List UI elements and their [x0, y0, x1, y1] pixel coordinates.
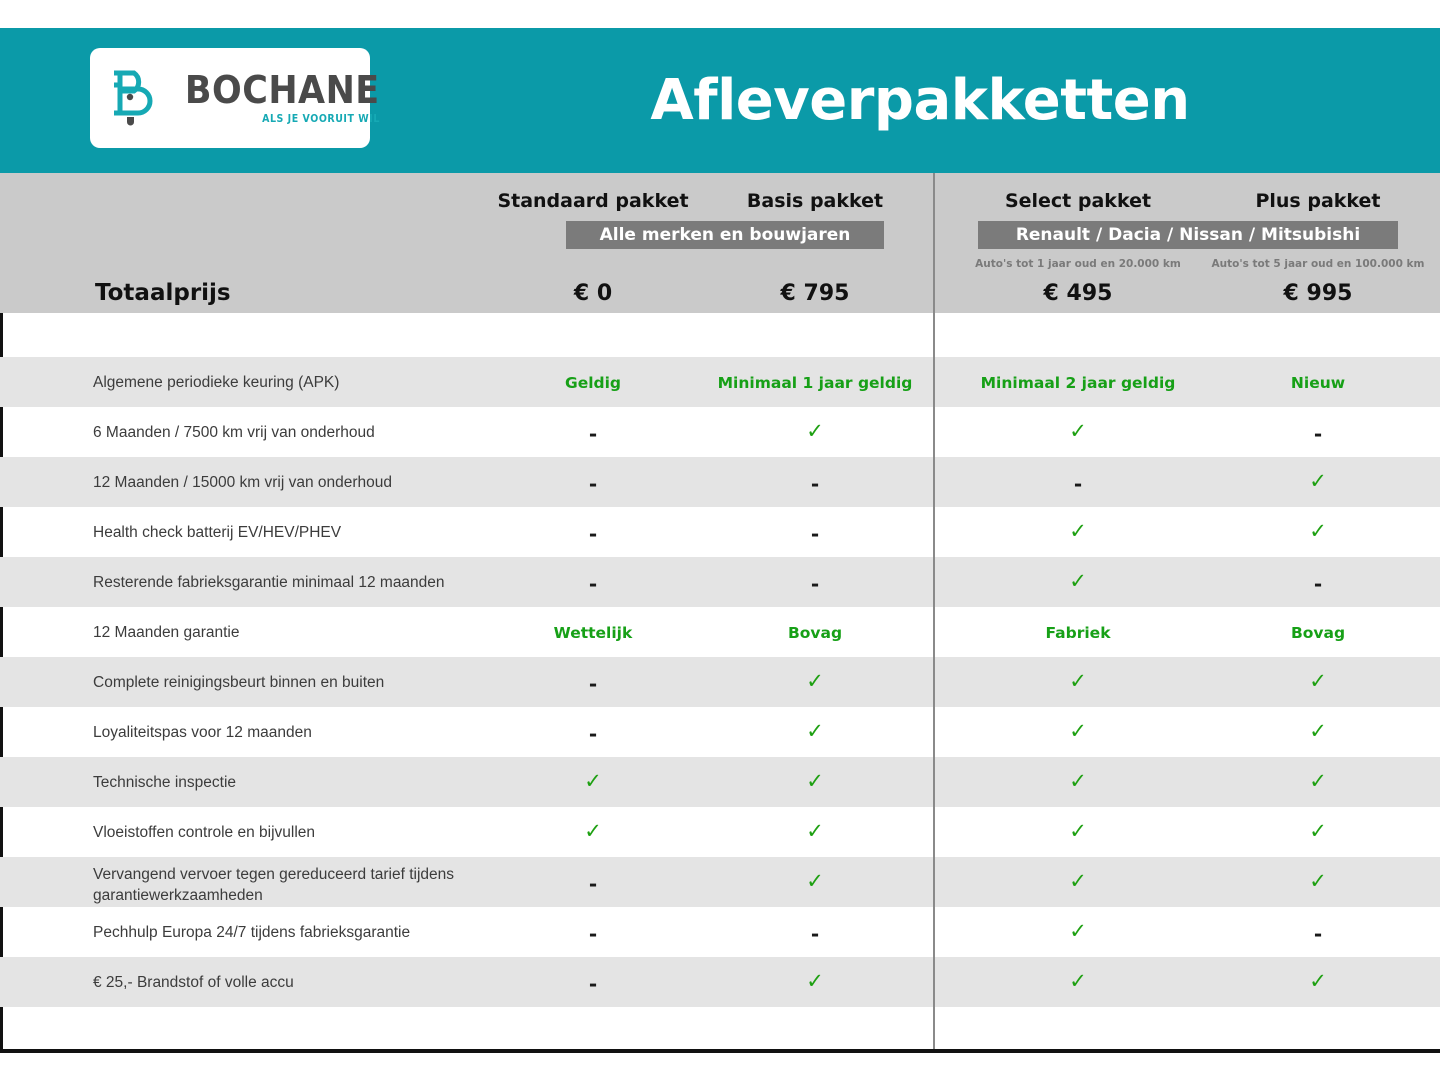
cell-value-check: ✓ [806, 669, 824, 693]
cell-value-dash: - [589, 972, 597, 996]
afleverpakketten-poster: BOCHANE ALS JE VOORUIT WIL Afleverpakket… [0, 0, 1440, 1080]
logo-tagline: ALS JE VOORUIT WIL [262, 114, 380, 125]
price-select: € 495 [958, 281, 1198, 306]
cell-standaard: ✓ [473, 771, 713, 792]
cell-value-dash: - [1314, 922, 1322, 946]
cell-value-dash: - [589, 872, 597, 896]
table-row: Vervangend vervoer tegen gereduceerd tar… [0, 857, 1440, 907]
column-header-select: Select pakket [958, 190, 1198, 212]
bochane-logo-icon [108, 67, 162, 129]
cell-standaard: - [473, 924, 713, 945]
row-label: Health check batterij EV/HEV/PHEV [93, 522, 523, 543]
table-header: Totaalprijs Standaard pakket Basis pakke… [0, 173, 1440, 313]
cell-value-check: ✓ [806, 769, 824, 793]
cell-value-dash: - [589, 522, 597, 546]
cell-value-dash: - [589, 472, 597, 496]
cell-value-check: ✓ [1309, 719, 1327, 743]
cell-select: - [958, 474, 1198, 495]
cell-plus: ✓ [1198, 821, 1438, 842]
cell-standaard: - [473, 524, 713, 545]
bochane-logo: BOCHANE ALS JE VOORUIT WIL [90, 48, 370, 148]
table-row: Technische inspectie✓✓✓✓ [0, 757, 1440, 807]
cell-select: ✓ [958, 671, 1198, 692]
cell-basis: ✓ [695, 421, 935, 442]
row-label: 6 Maanden / 7500 km vrij van onderhoud [93, 422, 523, 443]
cell-value-check: ✓ [1069, 719, 1087, 743]
cell-standaard: Geldig [473, 373, 713, 392]
cell-plus: ✓ [1198, 971, 1438, 992]
table-spacer-row-bottom [0, 1007, 1440, 1053]
cell-value-dash: - [811, 922, 819, 946]
cell-plus: Nieuw [1198, 373, 1438, 392]
cell-standaard: ✓ [473, 821, 713, 842]
column-header-plus: Plus pakket [1198, 190, 1438, 212]
cell-value-check: ✓ [1309, 769, 1327, 793]
cell-basis: ✓ [695, 871, 935, 892]
cell-plus: - [1198, 424, 1438, 445]
pill-merken-rechts: Renault / Dacia / Nissan / Mitsubishi [978, 221, 1398, 249]
cell-basis: - [695, 524, 935, 545]
cell-select: ✓ [958, 521, 1198, 542]
column-note-select: Auto's tot 1 jaar oud en 20.000 km [958, 258, 1198, 270]
cell-value-check: ✓ [1309, 519, 1327, 543]
cell-value-dash: - [589, 722, 597, 746]
cell-basis: - [695, 924, 935, 945]
cell-plus: - [1198, 924, 1438, 945]
cell-select: ✓ [958, 571, 1198, 592]
cell-plus: ✓ [1198, 871, 1438, 892]
cell-select: ✓ [958, 821, 1198, 842]
cell-value-check: ✓ [584, 769, 602, 793]
cell-value-check: ✓ [1069, 919, 1087, 943]
cell-select: ✓ [958, 871, 1198, 892]
cell-value-check: ✓ [1309, 669, 1327, 693]
table-row: Algemene periodieke keuring (APK)GeldigM… [0, 357, 1440, 407]
table-spacer-row-top [0, 313, 1440, 357]
cell-value-dash: - [811, 522, 819, 546]
table-row: 6 Maanden / 7500 km vrij van onderhoud-✓… [0, 407, 1440, 457]
column-note-plus: Auto's tot 5 jaar oud en 100.000 km [1198, 258, 1438, 270]
column-group-divider [933, 173, 935, 1051]
cell-plus: ✓ [1198, 721, 1438, 742]
cell-value-check: ✓ [806, 969, 824, 993]
row-label: Vervangend vervoer tegen gereduceerd tar… [93, 864, 523, 907]
cell-standaard: Wettelijk [473, 623, 713, 642]
cell-basis: Minimaal 1 jaar geldig [695, 373, 935, 392]
row-label: Algemene periodieke keuring (APK) [93, 372, 523, 393]
cell-value-check: ✓ [806, 419, 824, 443]
cell-basis: ✓ [695, 671, 935, 692]
cell-value-text: Wettelijk [554, 624, 633, 642]
table-row: 12 Maanden garantieWettelijkBovagFabriek… [0, 607, 1440, 657]
cell-plus: ✓ [1198, 521, 1438, 542]
cell-standaard: - [473, 474, 713, 495]
cell-value-dash: - [589, 922, 597, 946]
cell-standaard: - [473, 674, 713, 695]
cell-plus: ✓ [1198, 471, 1438, 492]
row-label: Complete reinigingsbeurt binnen en buite… [93, 672, 523, 693]
cell-plus: Bovag [1198, 623, 1438, 642]
cell-select: ✓ [958, 921, 1198, 942]
cell-value-text: Minimaal 2 jaar geldig [981, 374, 1176, 392]
cell-value-check: ✓ [1069, 819, 1087, 843]
cell-value-text: Bovag [1291, 624, 1345, 642]
row-label: Loyaliteitspas voor 12 maanden [93, 722, 523, 743]
cell-basis: ✓ [695, 771, 935, 792]
cell-value-check: ✓ [1309, 969, 1327, 993]
cell-value-dash: - [811, 572, 819, 596]
comparison-table-body: Algemene periodieke keuring (APK)GeldigM… [0, 313, 1440, 1053]
row-label: € 25,- Brandstof of volle accu [93, 972, 523, 993]
price-plus: € 995 [1198, 281, 1438, 306]
cell-basis: Bovag [695, 623, 935, 642]
cell-select: ✓ [958, 771, 1198, 792]
cell-value-dash: - [1314, 422, 1322, 446]
cell-basis: - [695, 574, 935, 595]
row-label: Vloeistoffen controle en bijvullen [93, 822, 523, 843]
cell-value-check: ✓ [1069, 869, 1087, 893]
table-bottom-rule [0, 1049, 1440, 1053]
cell-standaard: - [473, 724, 713, 745]
cell-value-check: ✓ [1309, 469, 1327, 493]
cell-value-check: ✓ [1069, 569, 1087, 593]
cell-value-dash: - [1074, 472, 1082, 496]
cell-value-check: ✓ [1309, 869, 1327, 893]
cell-basis: - [695, 474, 935, 495]
cell-standaard: - [473, 974, 713, 995]
table-row: 12 Maanden / 15000 km vrij van onderhoud… [0, 457, 1440, 507]
cell-basis: ✓ [695, 821, 935, 842]
table-row: Loyaliteitspas voor 12 maanden-✓✓✓ [0, 707, 1440, 757]
cell-value-dash: - [811, 472, 819, 496]
cell-value-dash: - [589, 422, 597, 446]
price-standaard: € 0 [473, 281, 713, 306]
cell-select: ✓ [958, 721, 1198, 742]
cell-value-check: ✓ [1069, 969, 1087, 993]
table-row: Vloeistoffen controle en bijvullen✓✓✓✓ [0, 807, 1440, 857]
cell-value-dash: - [589, 572, 597, 596]
table-row: Resterende fabrieksgarantie minimaal 12 … [0, 557, 1440, 607]
cell-select: ✓ [958, 421, 1198, 442]
cell-value-check: ✓ [806, 819, 824, 843]
cell-standaard: - [473, 574, 713, 595]
cell-plus: ✓ [1198, 771, 1438, 792]
cell-standaard: - [473, 424, 713, 445]
cell-value-check: ✓ [1069, 419, 1087, 443]
cell-value-dash: - [589, 672, 597, 696]
cell-value-text: Fabriek [1045, 624, 1110, 642]
logo-wordmark: BOCHANE [185, 71, 380, 109]
cell-value-check: ✓ [1069, 519, 1087, 543]
cell-value-check: ✓ [1069, 669, 1087, 693]
cell-value-check: ✓ [584, 819, 602, 843]
cell-value-check: ✓ [1309, 819, 1327, 843]
cell-value-check: ✓ [806, 869, 824, 893]
cell-value-text: Geldig [565, 374, 621, 392]
cell-value-check: ✓ [1069, 769, 1087, 793]
cell-basis: ✓ [695, 971, 935, 992]
price-basis: € 795 [695, 281, 935, 306]
column-header-standaard: Standaard pakket [473, 190, 713, 212]
cell-select: ✓ [958, 971, 1198, 992]
cell-plus: - [1198, 574, 1438, 595]
cell-value-dash: - [1314, 572, 1322, 596]
column-header-basis: Basis pakket [695, 190, 935, 212]
row-label: Resterende fabrieksgarantie minimaal 12 … [93, 572, 523, 593]
cell-plus: ✓ [1198, 671, 1438, 692]
table-row: € 25,- Brandstof of volle accu-✓✓✓ [0, 957, 1440, 1007]
cell-basis: ✓ [695, 721, 935, 742]
table-row: Complete reinigingsbeurt binnen en buite… [0, 657, 1440, 707]
cell-select: Fabriek [958, 623, 1198, 642]
pill-alle-merken: Alle merken en bouwjaren [566, 221, 884, 249]
cell-value-text: Nieuw [1291, 374, 1345, 392]
table-row: Pechhulp Europa 24/7 tijdens fabrieksgar… [0, 907, 1440, 957]
row-label: Technische inspectie [93, 772, 523, 793]
row-label: 12 Maanden garantie [93, 622, 523, 643]
cell-select: Minimaal 2 jaar geldig [958, 373, 1198, 392]
cell-value-text: Bovag [788, 624, 842, 642]
row-label: Pechhulp Europa 24/7 tijdens fabrieksgar… [93, 922, 523, 943]
page-title: Afleverpakketten [400, 28, 1440, 173]
table-row: Health check batterij EV/HEV/PHEV--✓✓ [0, 507, 1440, 557]
cell-value-text: Minimaal 1 jaar geldig [718, 374, 913, 392]
cell-standaard: - [473, 874, 713, 895]
totaalprijs-label: Totaalprijs [95, 280, 231, 306]
cell-value-check: ✓ [806, 719, 824, 743]
row-label: 12 Maanden / 15000 km vrij van onderhoud [93, 472, 523, 493]
